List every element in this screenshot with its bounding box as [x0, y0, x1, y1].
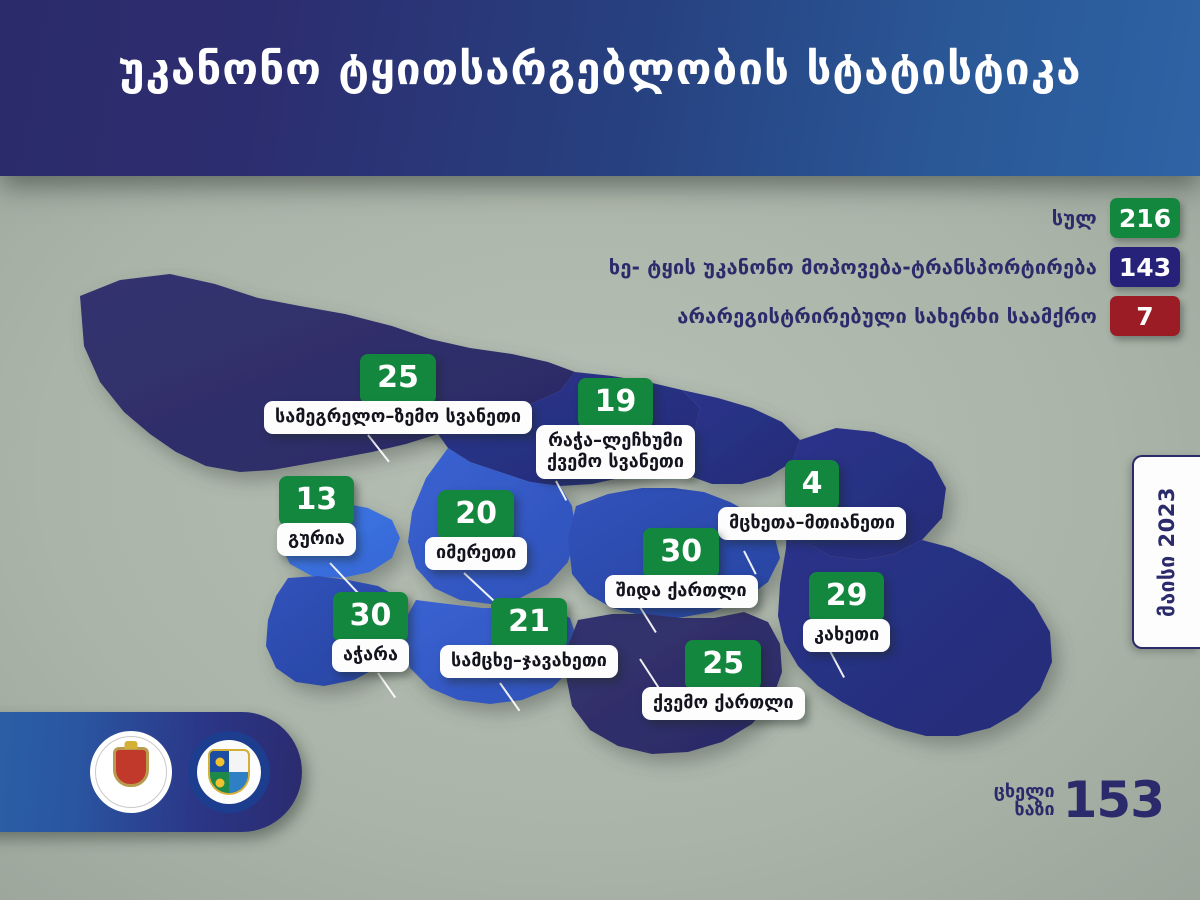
value-badge-kakheti: 29: [809, 572, 885, 622]
value-badge-samtskhe: 21: [491, 598, 567, 648]
value-badge-kvemo-kartli: 25: [685, 640, 761, 690]
callout-samegrelo[interactable]: 25 სამეგრელო–ზემო სვანეთი: [264, 354, 532, 434]
shield-quadrant-3: [210, 772, 229, 793]
value-badge-adjara: 30: [333, 592, 409, 642]
value-badge-samegrelo: 25: [360, 354, 436, 404]
callout-kvemo-kartli[interactable]: 25 ქვემო ქართლი: [642, 640, 805, 720]
callout-imereti[interactable]: 20 იმერეთი: [425, 490, 527, 570]
shield-icon: [210, 751, 248, 793]
ministry-seal-icon: [90, 731, 172, 813]
callout-samtskhe[interactable]: 21 სამცხე–ჯავახეთი: [440, 598, 618, 678]
logo-bar: [0, 712, 302, 832]
region-label-adjara: აჭარა: [332, 639, 409, 672]
date-tab: მაისი 2023: [1132, 455, 1200, 649]
value-badge-mtskheta: 4: [785, 460, 840, 510]
callout-adjara[interactable]: 30 აჭარა: [332, 592, 409, 672]
hotline-line2: ხაზი: [994, 801, 1055, 819]
callout-kakheti[interactable]: 29 კახეთი: [803, 572, 890, 652]
hotline-number: 153: [1063, 778, 1164, 823]
callout-guria[interactable]: 13 გურია: [277, 476, 356, 556]
coat-of-arms-icon: [116, 750, 146, 784]
region-label-guria: გურია: [277, 523, 356, 556]
hotline-block: ცხელი ხაზი 153: [994, 778, 1164, 823]
region-label-samtskhe: სამცხე–ჯავახეთი: [440, 645, 618, 678]
page-title: უკანონო ტყითსარგებლობის სტატისტიკა: [0, 46, 1200, 94]
value-badge-guria: 13: [279, 476, 355, 526]
department-seal-icon: [188, 731, 270, 813]
region-label-racha: რაჭა–ლეჩხუმი ქვემო სვანეთი: [536, 425, 695, 479]
stat-value-sawmill: 7: [1110, 296, 1180, 336]
stat-row-total: სულ 216: [609, 198, 1180, 238]
shield-quadrant-1: [210, 751, 229, 772]
stat-value-logging: 143: [1110, 247, 1180, 287]
shield-quadrant-4: [229, 772, 248, 793]
date-tab-label: მაისი 2023: [1155, 487, 1179, 617]
callout-shida-kartli[interactable]: 30 შიდა ქართლი: [605, 528, 758, 608]
value-badge-imereti: 20: [438, 490, 514, 540]
region-label-shida-kartli: შიდა ქართლი: [605, 575, 758, 608]
stat-value-total: 216: [1110, 198, 1180, 238]
stat-row-sawmill: არარეგისტრირებული სახერხი საამქრო 7: [609, 296, 1180, 336]
shield-quadrant-2: [229, 751, 248, 772]
stat-label-total: სულ: [1052, 206, 1097, 230]
stat-label-sawmill: არარეგისტრირებული სახერხი საამქრო: [677, 304, 1097, 328]
callout-racha[interactable]: 19 რაჭა–ლეჩხუმი ქვემო სვანეთი: [536, 378, 695, 479]
infographic-root: უკანონო ტყითსარგებლობის სტატისტიკა: [0, 0, 1200, 900]
region-label-kvemo-kartli: ქვემო ქართლი: [642, 687, 805, 720]
stats-legend: სულ 216 ხე- ტყის უკანონო მოპოვება-ტრანსპ…: [609, 198, 1180, 345]
value-badge-racha: 19: [578, 378, 654, 428]
header-bar: უკანონო ტყითსარგებლობის სტატისტიკა: [0, 0, 1200, 176]
region-label-racha-line2: ქვემო სვანეთი: [547, 451, 684, 472]
region-label-imereti: იმერეთი: [425, 537, 527, 570]
map-shape-group: [80, 274, 1052, 754]
stat-label-logging: ხე- ტყის უკანონო მოპოვება-ტრანსპორტირება: [609, 255, 1097, 279]
hotline-line1: ცხელი: [994, 783, 1055, 801]
stat-row-logging: ხე- ტყის უკანონო მოპოვება-ტრანსპორტირება…: [609, 247, 1180, 287]
value-badge-shida-kartli: 30: [643, 528, 719, 578]
region-label-kakheti: კახეთი: [803, 619, 890, 652]
region-label-racha-line1: რაჭა–ლეჩხუმი: [547, 430, 684, 451]
hotline-words: ცხელი ხაზი: [994, 783, 1055, 819]
region-label-samegrelo: სამეგრელო–ზემო სვანეთი: [264, 401, 532, 434]
